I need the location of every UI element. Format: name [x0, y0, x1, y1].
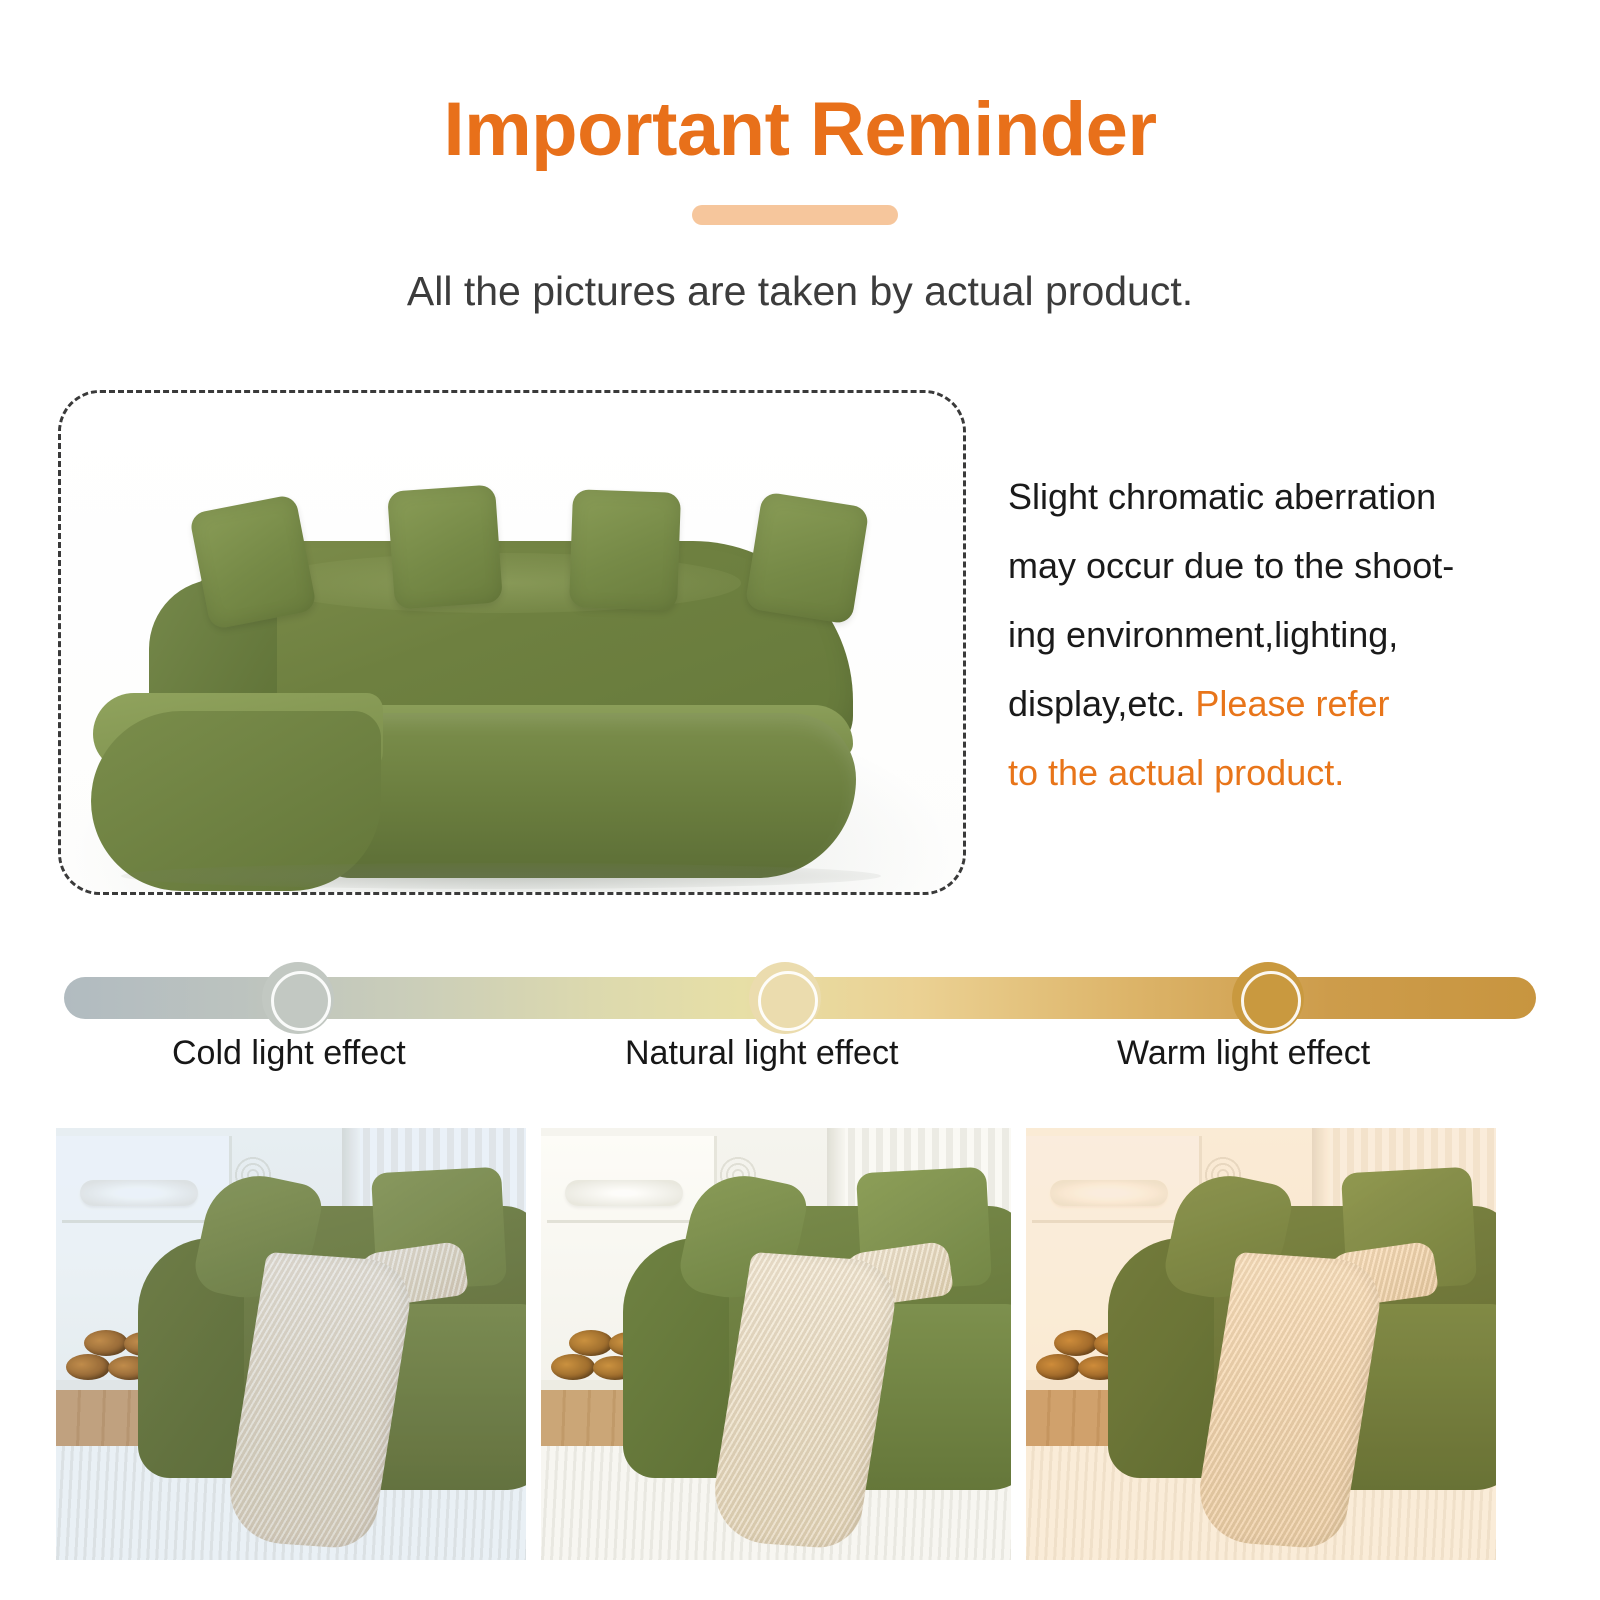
log	[84, 1330, 128, 1356]
slider-knob-natural[interactable]	[749, 962, 821, 1034]
log	[1036, 1354, 1080, 1380]
log	[569, 1330, 613, 1356]
sofa-pillow-2	[387, 484, 503, 609]
comparison-photo-row	[56, 1128, 1544, 1560]
note-line-1: Slight chromatic aberration	[1008, 476, 1436, 517]
sofa-seat-cushion	[311, 713, 856, 878]
sofa-pillow-3	[569, 489, 681, 611]
hero-product-photo	[61, 393, 963, 892]
panel-trim-line	[547, 1220, 711, 1223]
title-underline-accent	[692, 205, 898, 225]
sofa-pillow-4	[744, 491, 869, 624]
comparison-photo-cold-light	[56, 1128, 526, 1560]
note-line-5-highlight: to the actual product.	[1008, 752, 1344, 793]
log	[1054, 1330, 1098, 1356]
comparison-photo-natural-light	[541, 1128, 1011, 1560]
slider-label-cold: Cold light effect	[172, 1034, 406, 1073]
note-line-4-plain: display,etc.	[1008, 683, 1195, 724]
room-scene	[56, 1128, 526, 1560]
sofa-pillow-1	[189, 494, 318, 630]
panel-trim-line	[1032, 1220, 1196, 1223]
chromatic-aberration-note: Slight chromatic aberration may occur du…	[1008, 462, 1538, 807]
sofa-floor-shadow	[121, 863, 881, 889]
hero-product-frame	[58, 390, 966, 895]
log	[66, 1354, 110, 1380]
slider-knob-cold[interactable]	[262, 962, 334, 1034]
slider-label-group: Cold light effect Natural light effect W…	[0, 1034, 1600, 1082]
ornate-molding-icon	[80, 1180, 198, 1206]
sofa-illustration	[61, 393, 966, 895]
room-scene	[541, 1128, 1011, 1560]
reminder-page: Important Reminder All the pictures are …	[0, 0, 1600, 1600]
panel-trim-line	[62, 1220, 226, 1223]
page-title: Important Reminder	[0, 92, 1600, 168]
slider-knob-warm[interactable]	[1232, 962, 1304, 1034]
note-line-2: may occur due to the shoot-	[1008, 545, 1454, 586]
comparison-photo-warm-light	[1026, 1128, 1496, 1560]
log	[551, 1354, 595, 1380]
page-subtitle: All the pictures are taken by actual pro…	[0, 268, 1600, 315]
ornate-molding-icon	[1050, 1180, 1168, 1206]
slider-label-warm: Warm light effect	[1117, 1034, 1370, 1073]
note-line-3: ing environment,lighting,	[1008, 614, 1398, 655]
room-scene	[1026, 1128, 1496, 1560]
slider-label-natural: Natural light effect	[625, 1034, 898, 1073]
note-line-4-highlight: Please refer	[1195, 683, 1389, 724]
ornate-molding-icon	[565, 1180, 683, 1206]
